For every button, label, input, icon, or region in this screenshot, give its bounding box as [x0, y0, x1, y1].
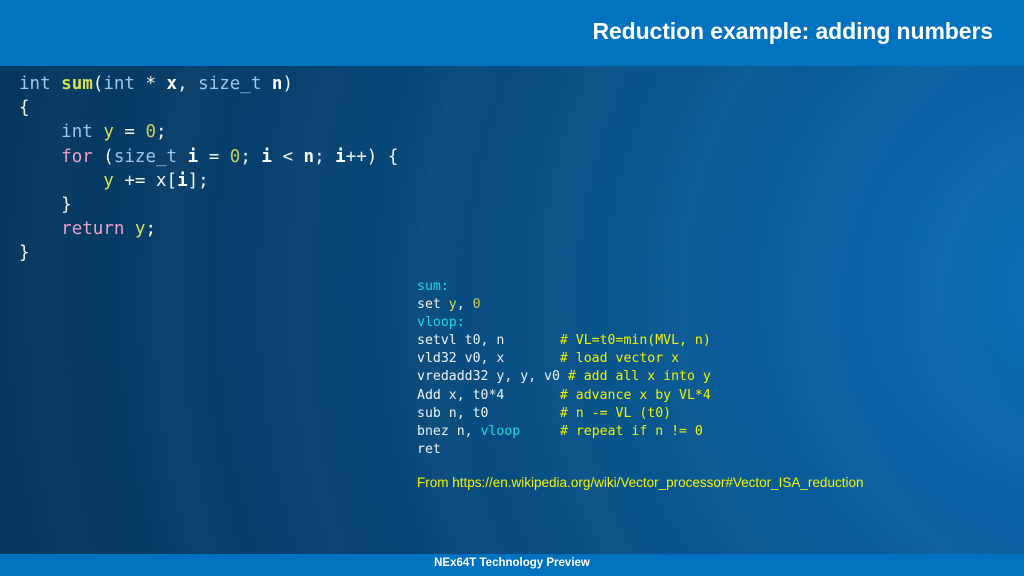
- code-token: sum:: [417, 279, 449, 294]
- code-line: return y;: [19, 217, 398, 241]
- code-token: [19, 122, 61, 142]
- code-line: set y, 0: [417, 296, 711, 314]
- code-token: ;: [314, 147, 335, 167]
- code-token: y: [449, 297, 457, 312]
- code-token: sum: [61, 74, 93, 94]
- code-token: int: [61, 122, 93, 142]
- code-token: # load vector x: [560, 351, 679, 366]
- code-token: vredadd32 y, y, v0: [417, 369, 568, 384]
- code-token: i: [335, 147, 346, 167]
- code-token: set: [417, 297, 449, 312]
- code-token: ,: [177, 74, 198, 94]
- code-line: vld32 v0, x # load vector x: [417, 350, 711, 368]
- code-token: return: [61, 219, 124, 239]
- code-line: vredadd32 y, y, v0 # add all x into y: [417, 368, 711, 386]
- code-token: [520, 424, 560, 439]
- code-token: i: [177, 171, 188, 191]
- code-line: sum:: [417, 278, 711, 296]
- code-token: ;: [240, 147, 261, 167]
- c-source-code-block: int sum(int * x, size_t n){ int y = 0; f…: [19, 72, 398, 266]
- footer-bar: NEx64T Technology Preview: [0, 554, 1024, 576]
- slide: Reduction example: adding numbers int su…: [0, 0, 1024, 576]
- code-token: 0: [145, 122, 156, 142]
- title-bar: Reduction example: adding numbers: [0, 0, 1024, 66]
- code-token: i: [188, 147, 199, 167]
- code-token: x: [167, 74, 178, 94]
- code-token: y: [103, 122, 114, 142]
- code-token: sub n, t0: [417, 406, 560, 421]
- code-token: ;: [145, 219, 156, 239]
- code-line: for (size_t i = 0; i < n; i++) {: [19, 145, 398, 169]
- footer-label: NEx64T Technology Preview: [0, 557, 1024, 569]
- code-token: vloop:: [417, 315, 465, 330]
- code-token: vld32 v0, x: [417, 351, 560, 366]
- code-line: Add x, t0*4 # advance x by VL*4: [417, 387, 711, 405]
- code-token: ): [282, 74, 293, 94]
- code-token: x: [156, 171, 167, 191]
- code-token: }: [19, 243, 30, 263]
- code-token: ;: [156, 122, 167, 142]
- code-token: # add all x into y: [568, 369, 711, 384]
- code-token: [19, 147, 61, 167]
- code-token: <: [272, 147, 304, 167]
- code-token: n: [304, 147, 315, 167]
- code-token: *: [135, 74, 167, 94]
- code-token: # repeat if n != 0: [560, 424, 703, 439]
- code-token: i: [261, 147, 272, 167]
- code-token: int: [103, 74, 135, 94]
- code-token: y: [135, 219, 146, 239]
- code-token: ++) {: [346, 147, 399, 167]
- code-token: {: [19, 98, 30, 118]
- code-line: y += x[i];: [19, 169, 398, 193]
- code-line: int sum(int * x, size_t n): [19, 72, 398, 96]
- code-token: +=: [114, 171, 156, 191]
- code-line: int y = 0;: [19, 120, 398, 144]
- code-line: setvl t0, n # VL=t0=min(MVL, n): [417, 332, 711, 350]
- code-token: ];: [188, 171, 209, 191]
- code-line: vloop:: [417, 314, 711, 332]
- code-token: vloop: [481, 424, 521, 439]
- code-token: # VL=t0=min(MVL, n): [560, 333, 711, 348]
- code-token: [: [167, 171, 178, 191]
- code-token: size_t: [114, 147, 177, 167]
- code-token: n: [272, 74, 283, 94]
- code-line: bnez n, vloop # repeat if n != 0: [417, 423, 711, 441]
- code-line: ret: [417, 441, 711, 459]
- code-token: for: [61, 147, 93, 167]
- code-token: # n -= VL (t0): [560, 406, 671, 421]
- code-token: 0: [473, 297, 481, 312]
- code-token: 0: [230, 147, 241, 167]
- code-token: [124, 219, 135, 239]
- code-token: [261, 74, 272, 94]
- code-token: (: [93, 147, 114, 167]
- code-token: size_t: [198, 74, 261, 94]
- code-token: (: [93, 74, 104, 94]
- code-token: Add x, t0*4: [417, 388, 560, 403]
- code-token: ret: [417, 442, 441, 457]
- code-line: }: [19, 241, 398, 265]
- page-title: Reduction example: adding numbers: [592, 18, 993, 45]
- code-token: int: [19, 74, 51, 94]
- code-line: sub n, t0 # n -= VL (t0): [417, 405, 711, 423]
- code-line: }: [19, 193, 398, 217]
- code-token: setvl t0, n: [417, 333, 560, 348]
- code-token: ,: [457, 297, 473, 312]
- code-token: bnez n,: [417, 424, 481, 439]
- code-token: [51, 74, 62, 94]
- code-line: {: [19, 96, 398, 120]
- code-token: # advance x by VL*4: [560, 388, 711, 403]
- code-token: [19, 171, 103, 191]
- code-token: =: [198, 147, 230, 167]
- assembly-code-block: sum:set y, 0vloop:setvl t0, n # VL=t0=mi…: [417, 278, 711, 459]
- code-token: [177, 147, 188, 167]
- code-token: =: [114, 122, 146, 142]
- code-token: }: [19, 195, 72, 215]
- code-token: [19, 219, 61, 239]
- code-token: [93, 122, 104, 142]
- source-attribution-link[interactable]: From https://en.wikipedia.org/wiki/Vecto…: [417, 475, 863, 490]
- code-token: y: [103, 171, 114, 191]
